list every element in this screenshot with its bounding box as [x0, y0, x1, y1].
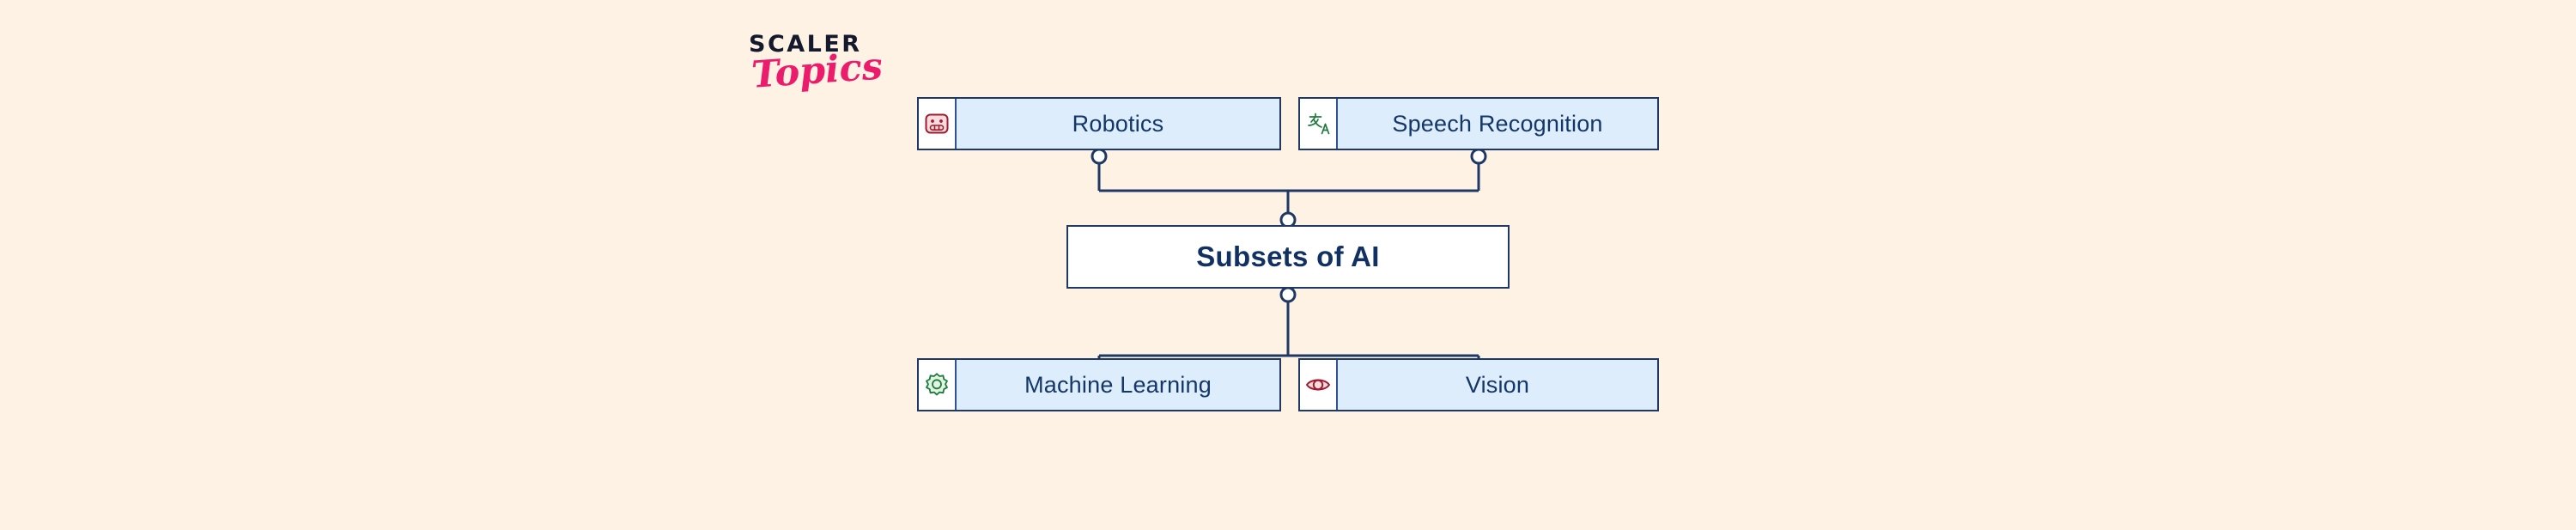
node-subsets-of-ai[interactable]: Subsets of AI [1066, 225, 1510, 289]
translate-icon-cell [1300, 99, 1338, 149]
gear-icon [923, 371, 951, 399]
node-speech-recognition-label: Speech Recognition [1338, 99, 1657, 149]
center-label: Subsets of AI [1196, 241, 1380, 273]
node-robotics[interactable]: Robotics [917, 97, 1281, 150]
gear-icon-cell [919, 360, 957, 410]
connector-joint-speech [1472, 149, 1485, 163]
node-machine-learning[interactable]: Machine Learning [917, 358, 1281, 411]
canvas: SCALER Topics [0, 0, 2576, 530]
node-robotics-label: Robotics [957, 99, 1279, 149]
node-speech-recognition[interactable]: Speech Recognition [1298, 97, 1659, 150]
connector-joint-center-bottom [1281, 288, 1295, 302]
node-vision[interactable]: Vision [1298, 358, 1659, 411]
node-machine-learning-label: Machine Learning [957, 360, 1279, 410]
robot-icon [923, 110, 951, 137]
connector-joint-robotics [1092, 149, 1106, 163]
logo-secondary-text: Topics [750, 46, 923, 94]
eye-icon-cell [1300, 360, 1338, 410]
node-vision-label: Vision [1338, 360, 1657, 410]
robot-icon-cell [919, 99, 957, 149]
scaler-topics-logo: SCALER Topics [749, 33, 920, 110]
translate-icon [1304, 110, 1332, 137]
eye-icon [1304, 371, 1332, 399]
